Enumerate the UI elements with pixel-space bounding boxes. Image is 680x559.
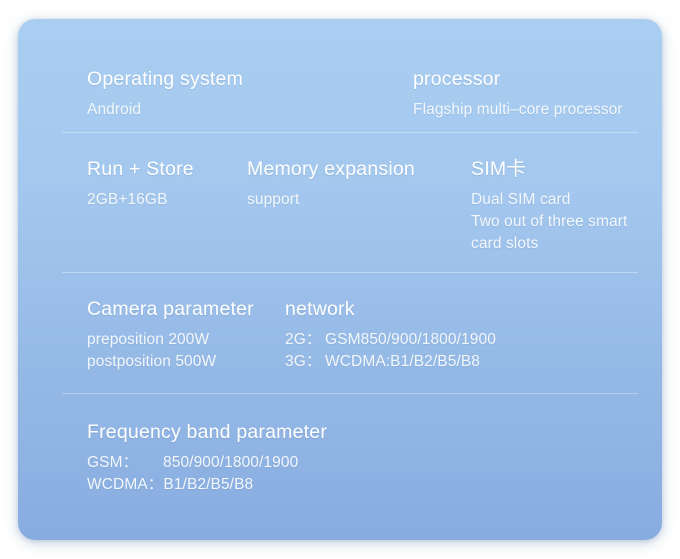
frequency-band-row-wcdma-label: WCDMA： xyxy=(87,474,163,496)
network-row-2g-label: 2G： xyxy=(285,329,325,351)
frequency-band-row-wcdma: WCDMA：B1/B2/B5/B8 xyxy=(87,474,327,496)
spec-column-network: network 2G：GSM850/900/1800/1900 3G：WCDMA… xyxy=(285,296,496,373)
processor-value: Flagship multi–core processor xyxy=(413,99,623,121)
processor-heading: processor xyxy=(413,66,623,92)
network-row-2g-value: GSM850/900/1800/1900 xyxy=(325,331,496,348)
camera-parameter-heading: Camera parameter xyxy=(87,296,254,322)
network-heading: network xyxy=(285,296,496,322)
spec-column-operating-system: Operating system Android xyxy=(87,66,243,121)
spec-column-memory-expansion: Memory expansion support xyxy=(247,156,415,211)
operating-system-value: Android xyxy=(87,99,243,121)
network-row-3g: 3G：WCDMA:B1/B2/B5/B8 xyxy=(285,351,496,373)
network-row-2g: 2G：GSM850/900/1800/1900 xyxy=(285,329,496,351)
sim-card-value-1: Dual SIM card xyxy=(471,189,627,211)
device-spec-card: Operating system Android processor Flags… xyxy=(18,19,662,540)
memory-expansion-value: support xyxy=(247,189,415,211)
sim-card-value-3: card slots xyxy=(471,233,627,255)
section-divider-3 xyxy=(62,393,638,394)
run-store-heading: Run + Store xyxy=(87,156,194,182)
network-row-3g-label: 3G： xyxy=(285,351,325,373)
camera-parameter-value-1: preposition 200W xyxy=(87,329,254,351)
memory-expansion-heading: Memory expansion xyxy=(247,156,415,182)
spec-column-processor: processor Flagship multi–core processor xyxy=(413,66,623,121)
spec-column-frequency-band: Frequency band parameter GSM：850/900/180… xyxy=(87,419,327,496)
run-store-value: 2GB+16GB xyxy=(87,189,194,211)
network-row-3g-value: WCDMA:B1/B2/B5/B8 xyxy=(325,353,480,370)
spec-column-sim-card: SIM卡 Dual SIM card Two out of three smar… xyxy=(471,156,627,255)
section-memory: Run + Store 2GB+16GB Memory expansion su… xyxy=(18,156,662,266)
section-camera-network: Camera parameter preposition 200W postpo… xyxy=(18,296,662,386)
frequency-band-heading: Frequency band parameter xyxy=(87,419,327,445)
section-system: Operating system Android processor Flags… xyxy=(18,66,662,126)
section-divider-2 xyxy=(62,272,638,273)
operating-system-heading: Operating system xyxy=(87,66,243,92)
frequency-band-row-gsm-label: GSM： xyxy=(87,452,163,474)
section-divider-1 xyxy=(62,132,638,133)
frequency-band-row-wcdma-value: B1/B2/B5/B8 xyxy=(163,476,253,493)
section-frequency-band: Frequency band parameter GSM：850/900/180… xyxy=(18,419,662,509)
camera-parameter-value-2: postposition 500W xyxy=(87,351,254,373)
sim-card-value-2: Two out of three smart xyxy=(471,211,627,233)
sim-card-heading: SIM卡 xyxy=(471,156,627,182)
spec-column-camera-parameter: Camera parameter preposition 200W postpo… xyxy=(87,296,254,373)
frequency-band-row-gsm-value: 850/900/1800/1900 xyxy=(163,454,298,471)
frequency-band-row-gsm: GSM：850/900/1800/1900 xyxy=(87,452,327,474)
spec-column-run-store: Run + Store 2GB+16GB xyxy=(87,156,194,211)
